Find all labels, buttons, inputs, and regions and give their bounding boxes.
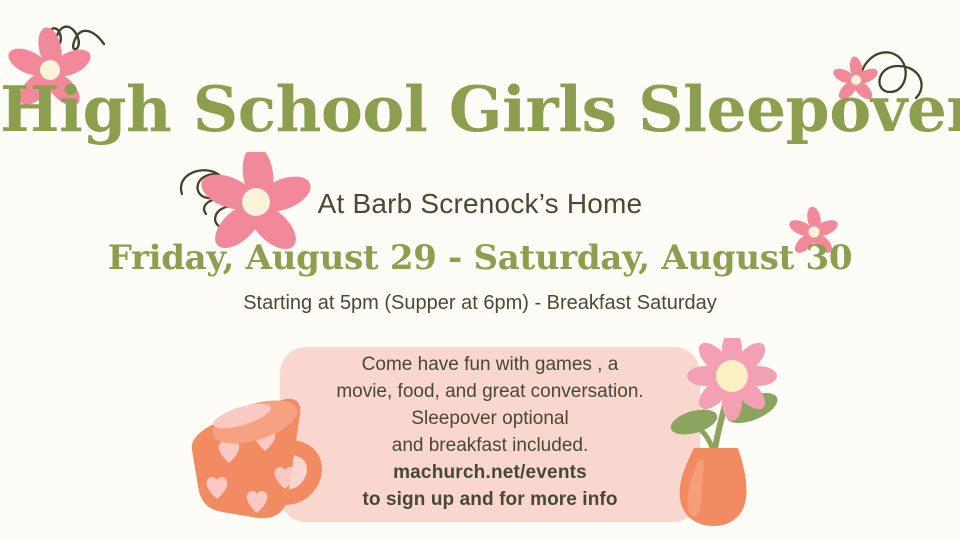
page-title: High School Girls Sleepover (0, 78, 960, 141)
plant-leaf-right (722, 387, 781, 429)
signup-url[interactable]: machurch.net/events (280, 460, 700, 487)
date-line: Friday, August 29 - Saturday, August 30 (0, 238, 960, 278)
info-line-3: Sleepover optional (280, 406, 700, 433)
schedule-line: Starting at 5pm (Supper at 6pm) - Breakf… (0, 292, 960, 315)
flyer-canvas: High School Girls Sleepover At Barb Scre… (0, 0, 960, 540)
plant-stem-main (714, 388, 730, 454)
squiggle-top-left-icon (47, 27, 104, 50)
call-to-action: to sign up and for more info (280, 487, 700, 514)
venue-line: At Barb Screnock’s Home (0, 188, 960, 220)
mug-rim-inner (211, 399, 274, 434)
info-line-4: and breakfast included. (280, 433, 700, 460)
info-line-2: movie, food, and great conversation. (280, 379, 700, 406)
info-card-text: Come have fun with games , a movie, food… (280, 352, 700, 514)
plant-daisy-bloom (687, 338, 777, 421)
info-line-1: Come have fun with games , a (280, 352, 700, 379)
